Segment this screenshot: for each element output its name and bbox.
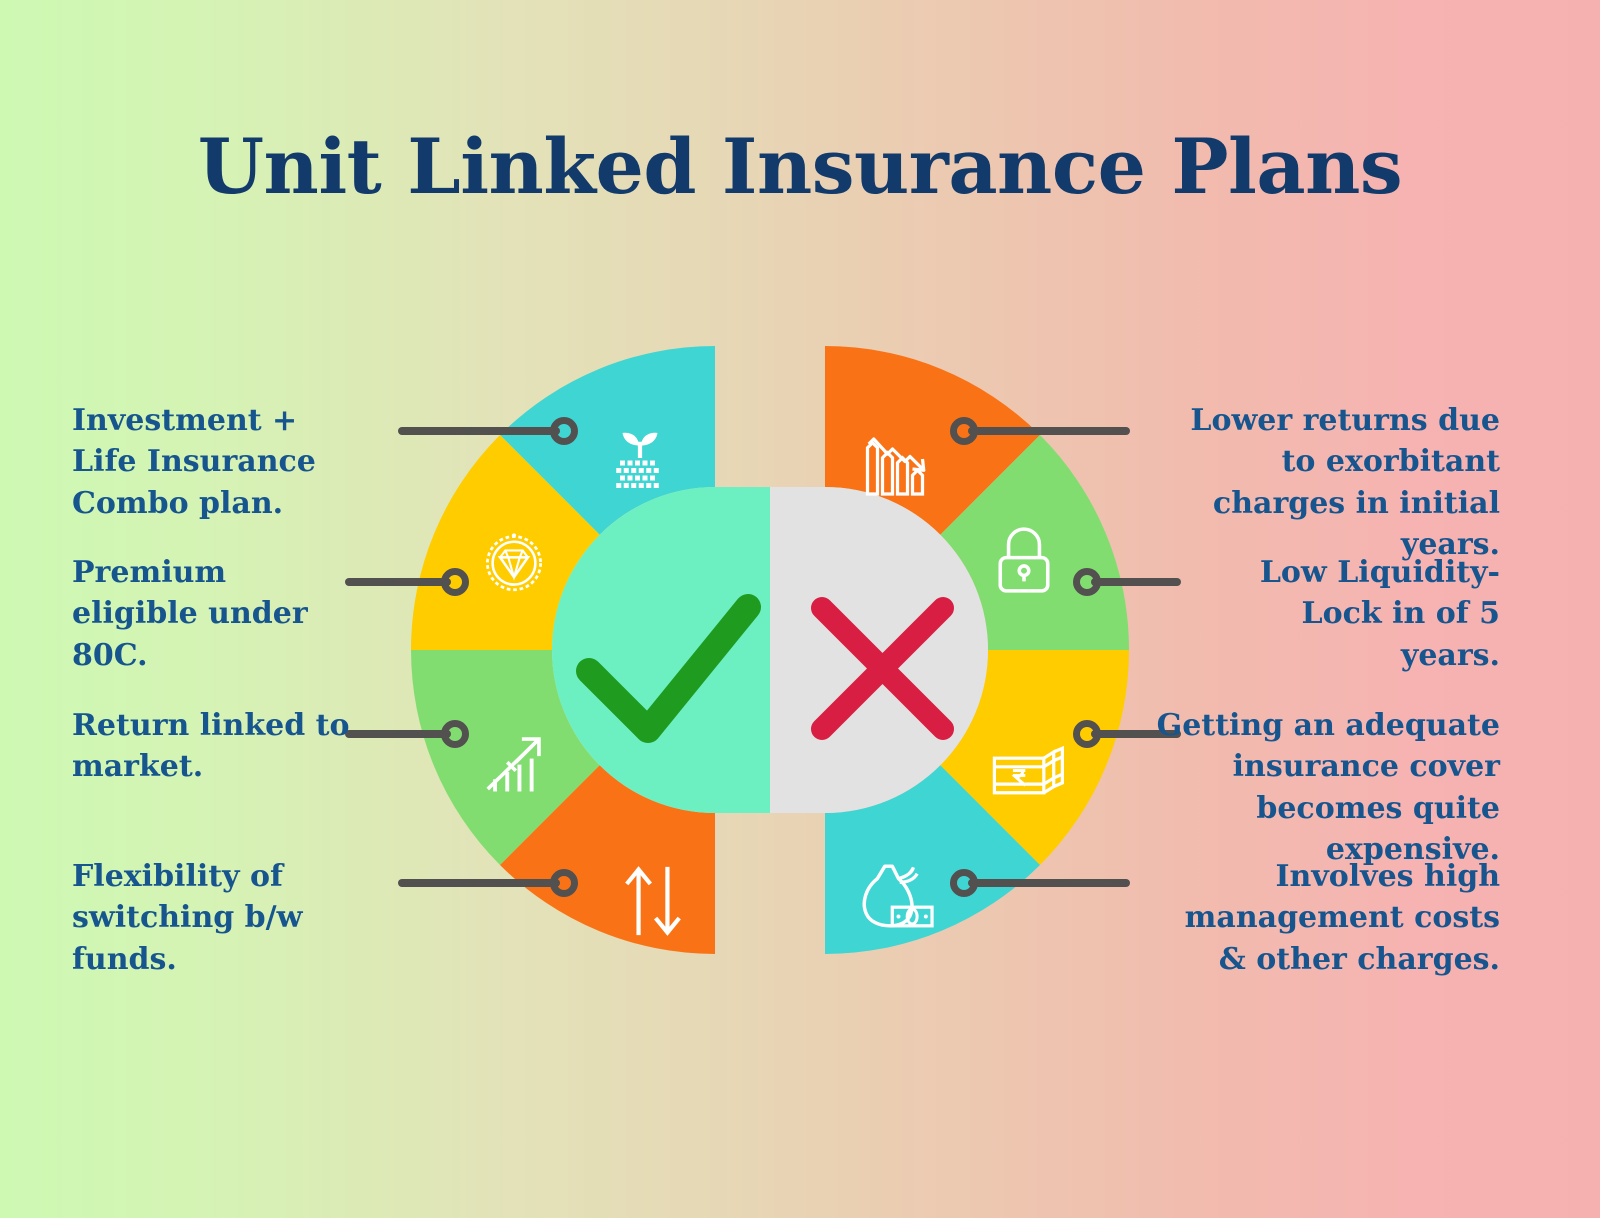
money-bag-icon xyxy=(855,856,937,936)
connector-cons-1 xyxy=(950,427,1130,435)
center-pros-half xyxy=(552,487,770,813)
cons-label-1: Lower returns due to exorbitant charges … xyxy=(1155,400,1500,566)
pros-label-4: Flexibility of switching b/w funds. xyxy=(72,856,342,980)
page-title: Unit Linked Insurance Plans xyxy=(0,122,1600,211)
padlock-icon xyxy=(989,522,1059,598)
up-down-arrows-icon xyxy=(611,859,695,943)
pros-label-2: Premium eligible under 80C. xyxy=(72,552,362,676)
infographic-canvas: Unit Linked Insurance Plans xyxy=(0,0,1600,1218)
connector-pros-2 xyxy=(345,578,470,586)
connector-pros-1 xyxy=(398,427,578,435)
connector-pros-4 xyxy=(398,879,578,887)
cons-label-4: Involves high management costs & other c… xyxy=(1155,856,1500,980)
connector-pros-3 xyxy=(345,730,470,738)
rising-bar-chart-arrow-icon xyxy=(478,722,556,800)
rupee-notes-stack-icon xyxy=(987,737,1071,809)
cons-label-2: Low Liquidity- Lock in of 5 years. xyxy=(1200,552,1500,676)
connector-cons-2 xyxy=(1073,578,1181,586)
pros-label-3: Return linked to market. xyxy=(72,705,352,788)
diamond-badge-icon xyxy=(477,525,551,599)
declining-bar-chart-arrow-icon xyxy=(855,424,935,504)
plant-growing-in-coins-icon xyxy=(600,423,680,503)
cons-label-3: Getting an adequate insurance cover beco… xyxy=(1110,705,1500,871)
pros-label-1: Investment + Life Insurance Combo plan. xyxy=(72,400,362,524)
connector-cons-4 xyxy=(950,879,1130,887)
